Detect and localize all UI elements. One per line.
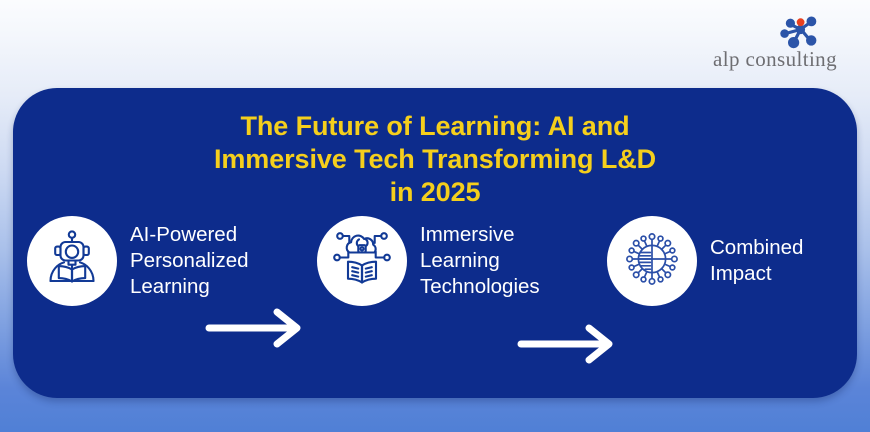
steps-row: AI-Powered Personalized Learning [13,216,857,366]
step-3-icon-bubble [607,216,697,306]
step-immersive-learning-technologies: Immersive Learning Technologies [317,216,540,306]
arrow-right-icon-2 [517,324,621,364]
step-2-icon-bubble [317,216,407,306]
main-panel: The Future of Learning: AI and Immersive… [13,88,857,398]
page-title-line-3: in 2025 [13,176,857,209]
brand-logo: alp consulting [700,14,850,76]
network-pie-chart-icon [621,228,683,295]
step-combined-impact: Combined Impact [607,216,803,306]
step-2-label-line-1: Immersive [420,222,540,248]
step-3-label-line-1: Combined [710,235,803,261]
step-1-label-line-3: Learning [130,274,249,300]
step-2-label-line-3: Technologies [420,274,540,300]
step-2-label-line-2: Learning [420,248,540,274]
step-1-label-line-2: Personalized [130,248,249,274]
step-3-label: Combined Impact [710,235,803,287]
infographic-canvas: alp consulting The Future of Learning: A… [0,0,870,432]
brand-wordmark: alp consulting [700,47,850,72]
robot-reading-book-icon [42,229,102,294]
step-3-label-line-2: Impact [710,261,803,287]
page-title-line-1: The Future of Learning: AI and [13,110,857,143]
page-title-line-2: Immersive Tech Transforming L&D [13,143,857,176]
molecule-nodes-icon [778,14,822,50]
step-2-label: Immersive Learning Technologies [420,222,540,301]
arrow-right-icon-1 [205,308,309,348]
step-1-label-line-1: AI-Powered [130,222,249,248]
step-ai-powered-personalized-learning: AI-Powered Personalized Learning [27,216,249,306]
page-title: The Future of Learning: AI and Immersive… [13,110,857,209]
cloud-brain-book-icon [332,229,392,294]
step-1-icon-bubble [27,216,117,306]
step-1-label: AI-Powered Personalized Learning [130,222,249,301]
